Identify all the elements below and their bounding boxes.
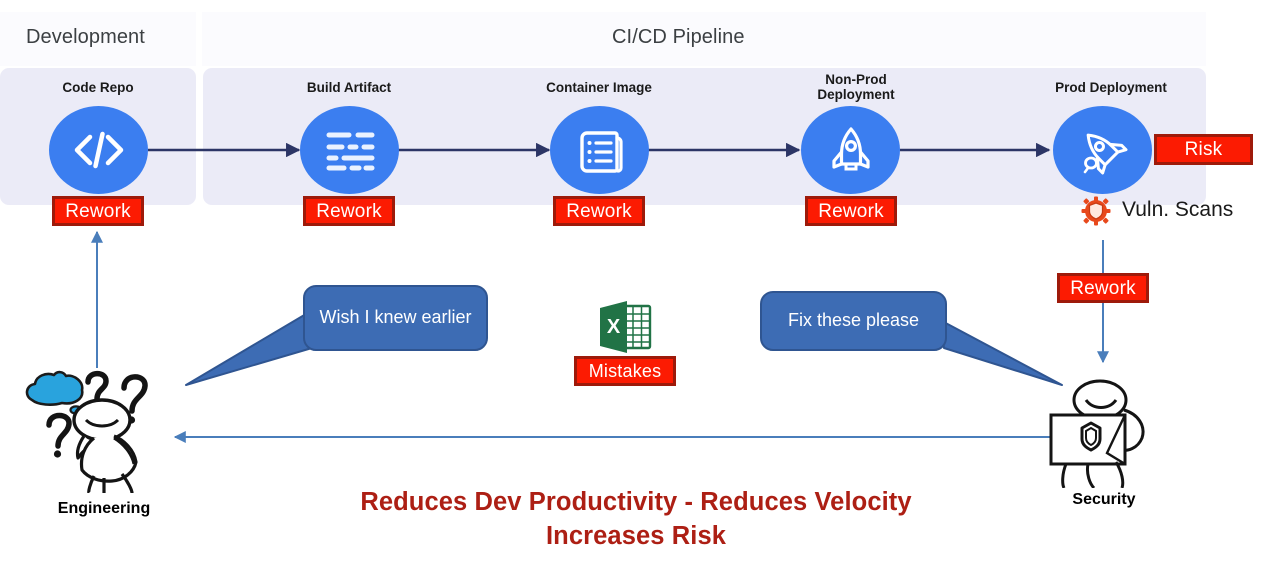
diagram-canvas: Development CI/CD Pipeline Code Repo <box>0 0 1272 562</box>
chip-rework-non-prod-deployment[interactable]: Rework <box>805 196 897 226</box>
tagline-text: Reduces Dev Productivity - Reduces Veloc… <box>186 486 1086 553</box>
security-person-icon <box>1042 378 1167 493</box>
actor-caption-engineering: Engineering <box>24 500 184 518</box>
chip-mistakes[interactable]: Mistakes <box>574 356 676 386</box>
chip-rework-container-image[interactable]: Rework <box>553 196 645 226</box>
build-lines-icon <box>322 127 378 173</box>
rocket-up-icon <box>825 124 877 176</box>
rocket-diagonal-icon <box>1076 123 1130 177</box>
stage-node-non-prod-deployment[interactable] <box>801 106 900 194</box>
code-brackets-icon <box>70 128 128 172</box>
chip-rework-code-repo[interactable]: Rework <box>52 196 144 226</box>
stage-node-container-image[interactable] <box>550 106 649 194</box>
stage-node-build-artifact[interactable] <box>300 106 399 194</box>
swimlane-title-cicd: CI/CD Pipeline <box>612 26 745 49</box>
chip-rework-build-artifact[interactable]: Rework <box>303 196 395 226</box>
stage-label-container-image: Container Image <box>529 80 669 95</box>
chip-risk[interactable]: Risk <box>1154 134 1253 165</box>
excel-icon: X <box>598 300 654 359</box>
stage-label-code-repo: Code Repo <box>28 80 168 95</box>
shield-gear-icon <box>1081 196 1111 231</box>
stage-label-build-artifact: Build Artifact <box>279 80 419 95</box>
speech-bubble-engineering: Wish I knew earlier <box>303 285 488 351</box>
svg-text:X: X <box>607 316 621 338</box>
confused-person-icon <box>18 358 178 498</box>
stage-node-code-repo[interactable] <box>49 106 148 194</box>
document-list-icon <box>574 124 626 176</box>
chip-rework-security[interactable]: Rework <box>1057 273 1149 303</box>
stage-label-non-prod-deployment: Non-Prod Deployment <box>786 72 926 102</box>
stage-node-prod-deployment[interactable] <box>1053 106 1152 194</box>
vuln-scans-label: Vuln. Scans <box>1122 198 1233 222</box>
swimlane-title-development: Development <box>26 26 145 49</box>
speech-bubble-security: Fix these please <box>760 291 947 351</box>
stage-label-prod-deployment: Prod Deployment <box>1036 80 1186 95</box>
